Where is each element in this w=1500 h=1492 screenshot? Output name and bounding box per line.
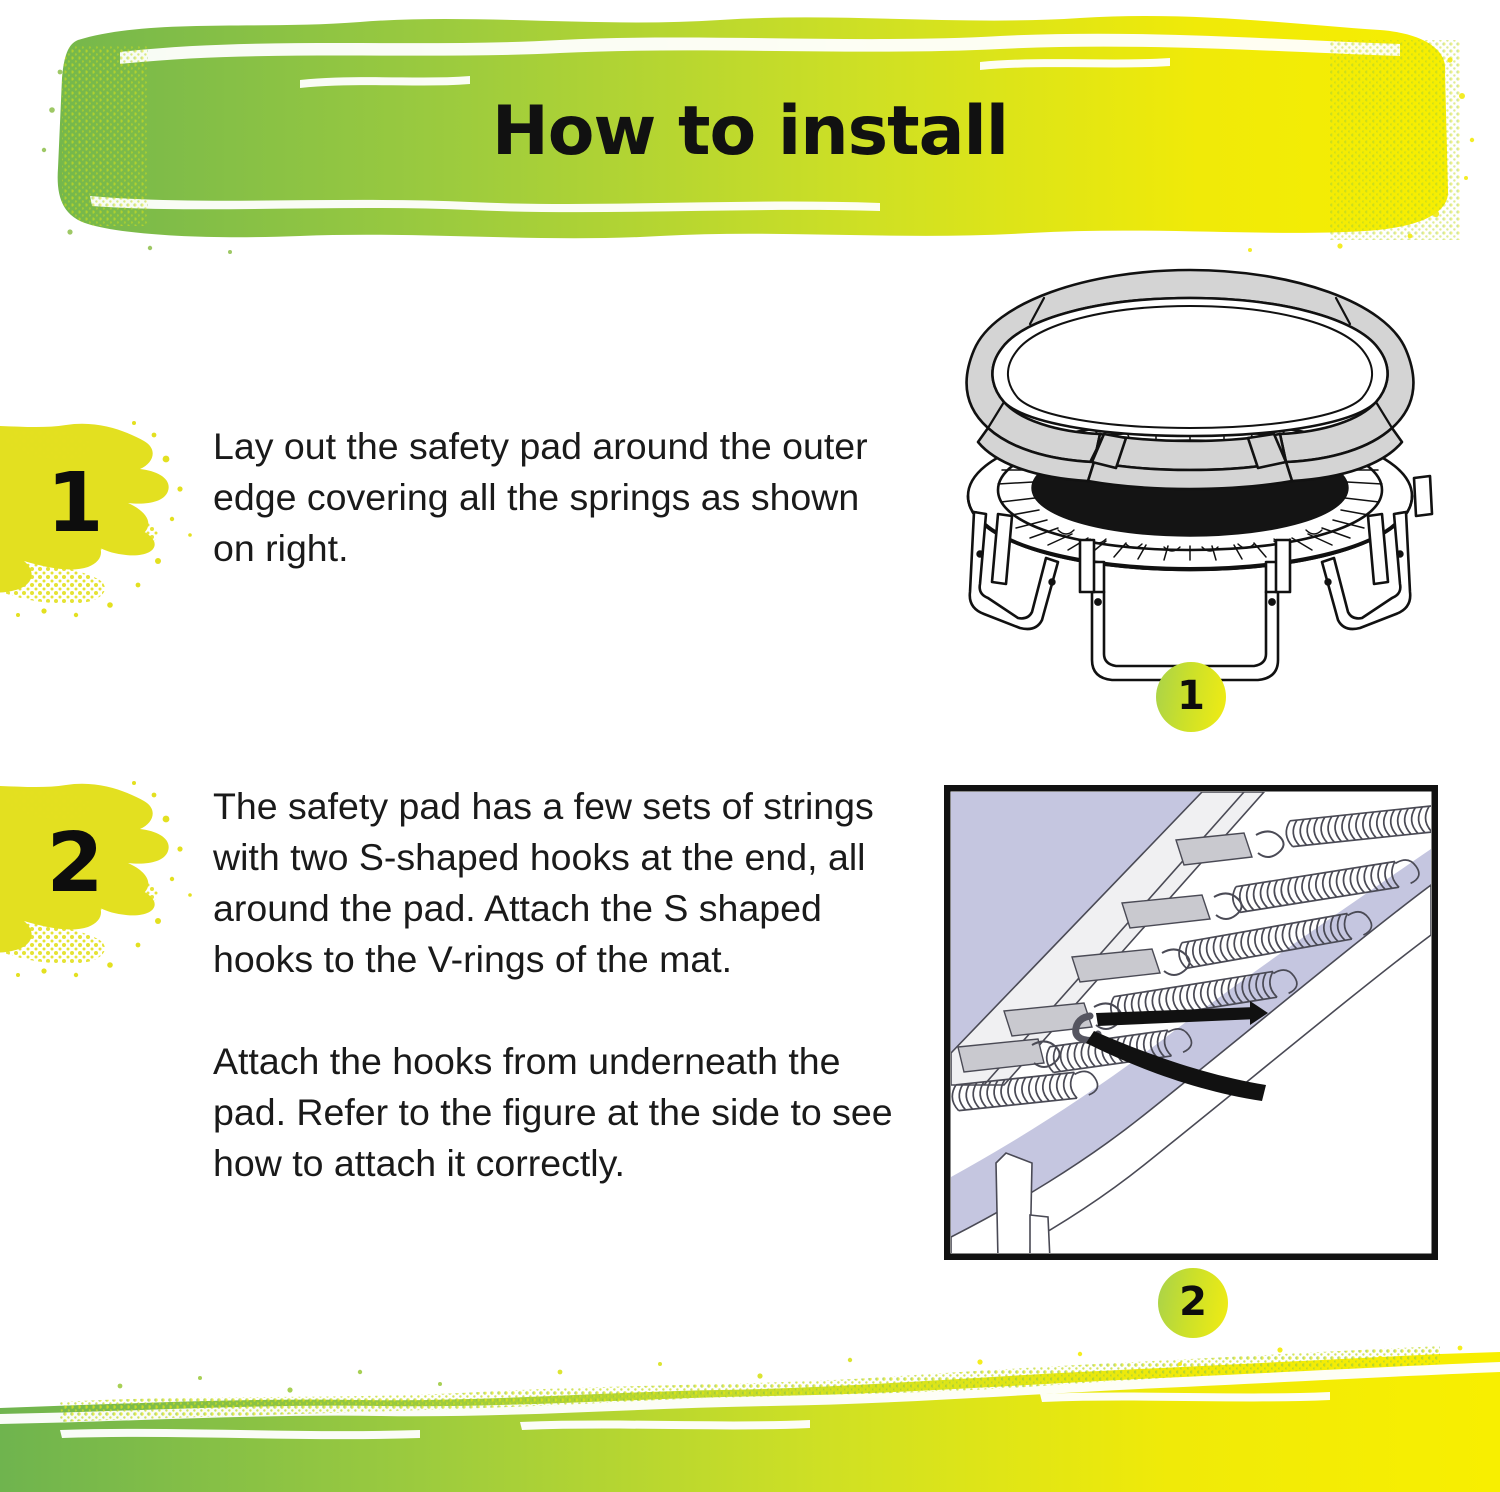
figure-badge-2-label: 2 — [1179, 1282, 1207, 1322]
step-1-paragraph-1: Lay out the safety pad around the outer … — [213, 421, 903, 574]
footer-banner — [0, 1342, 1500, 1492]
trampoline-illustration — [940, 262, 1440, 682]
figure-badge-2: 2 — [1158, 1268, 1228, 1338]
figure-badge-1-label: 1 — [1177, 676, 1205, 716]
spring-hook-detail-panel — [944, 785, 1438, 1260]
step-1-text: Lay out the safety pad around the outer … — [213, 421, 903, 574]
step-2-text: The safety pad has a few sets of strings… — [213, 781, 903, 1189]
step-2-number: 2 — [40, 823, 110, 905]
instruction-sheet: How to install — [0, 0, 1500, 1492]
header-banner: How to install — [0, 0, 1500, 270]
step-2-paragraph-2: Attach the hooks from underneath the pad… — [213, 1036, 903, 1189]
page-title: How to install — [0, 98, 1500, 166]
step-2-paragraph-1: The safety pad has a few sets of strings… — [213, 781, 903, 985]
figure-badge-1: 1 — [1156, 662, 1226, 732]
step-1-number: 1 — [40, 463, 110, 545]
